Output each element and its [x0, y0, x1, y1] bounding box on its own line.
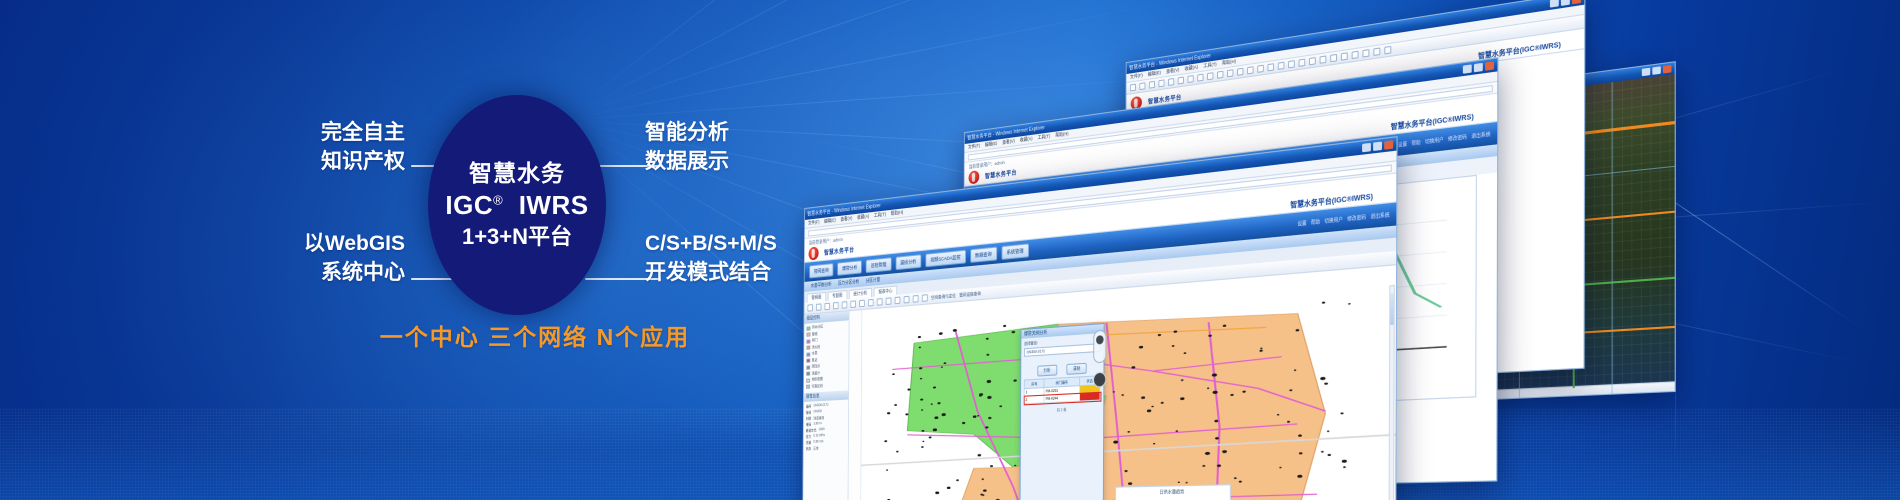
subnav-item-2[interactable]: 分区计量	[866, 277, 881, 284]
menu-item-4[interactable]: 工具(T)	[874, 212, 886, 220]
toolbar-icon-15[interactable]	[1278, 62, 1285, 70]
toolbar-icon-9[interactable]	[886, 297, 892, 305]
toolbar-icon-18[interactable]	[1309, 57, 1316, 65]
close-icon[interactable]	[1572, 0, 1581, 4]
small-line-chart-card: 日供水量趋势	[1115, 484, 1231, 500]
center-hub: 智慧水务 IGC® IWRS 1+3+N平台	[428, 95, 606, 315]
layer-label: 测压点	[812, 364, 820, 370]
menu-item-0[interactable]: 文件(F)	[968, 143, 980, 151]
toolbar-icon-8[interactable]	[1207, 72, 1213, 80]
layer-swatch-icon	[806, 359, 810, 363]
attribute-name: 流速	[806, 440, 811, 445]
attribute-name: 编号	[806, 404, 811, 409]
map-toolbar-tab-0[interactable]: 空间查询与定位	[931, 292, 956, 300]
menu-item-1[interactable]: 编辑(E)	[985, 141, 997, 149]
toolbar-icon-19[interactable]	[1320, 55, 1327, 63]
tab-0[interactable]: 管网图	[807, 292, 826, 303]
screenshot-stack: 影像底图 影像加载完成	[795, 40, 1895, 470]
minimize-icon[interactable]	[1463, 64, 1472, 73]
subnav-item-0[interactable]: 水量平衡分析	[811, 281, 832, 289]
nav-right-item-1[interactable]: 帮助	[1411, 139, 1420, 147]
map-zoom-slider[interactable]	[1093, 329, 1106, 363]
menu-item-0[interactable]: 文件(F)	[1130, 73, 1143, 81]
menu-item-3[interactable]: 收藏(A)	[857, 213, 869, 221]
menu-item-3[interactable]: 收藏(A)	[1185, 64, 1198, 72]
close-icon[interactable]	[1485, 61, 1494, 70]
toolbar-icon-5[interactable]	[850, 300, 856, 308]
menu-item-5[interactable]: 帮助(H)	[1055, 131, 1068, 139]
toolbar-icon-1[interactable]	[816, 303, 821, 311]
attribute-value: 球墨铸铁	[814, 415, 825, 421]
toolbar-icon-17[interactable]	[1299, 59, 1306, 67]
toolbar-icon-12[interactable]	[1247, 66, 1253, 74]
minimize-icon[interactable]	[1550, 0, 1559, 8]
toolbar-icon-14[interactable]	[1267, 63, 1274, 71]
layer-swatch-icon	[806, 385, 810, 389]
layer-label: 泵站	[812, 358, 818, 363]
nav-right-group[interactable]: 设置帮助切换用户修改密码退出系统	[1297, 211, 1389, 227]
toolbar-icon-11[interactable]	[904, 296, 910, 304]
menu-item-4[interactable]: 工具(T)	[1203, 61, 1216, 69]
toolbar-icon-7[interactable]	[1197, 74, 1203, 82]
menu-item-1[interactable]: 编辑(E)	[824, 217, 836, 224]
toolbar-icon-23[interactable]	[1362, 49, 1369, 58]
toolbar-icon-25[interactable]	[1384, 46, 1391, 55]
nav-right-item-4[interactable]: 退出系统	[1370, 211, 1389, 220]
window-gis-main[interactable]: 智慧水务平台 - Windows Internet Explorer 文件(F)…	[802, 136, 1398, 500]
attribute-name: 埋深	[806, 422, 811, 427]
dialog-analyze-button[interactable]: 分析	[1037, 365, 1057, 377]
menu-item-1[interactable]: 编辑(E)	[1148, 70, 1161, 78]
nav-button-0[interactable]: 管网查询	[809, 263, 833, 278]
small-line-chart-svg	[1116, 495, 1230, 500]
nav-button-1[interactable]: 爆管分析	[837, 260, 862, 276]
toolbar-icon-8[interactable]	[877, 298, 883, 306]
hub-brand-iwrs: IWRS	[519, 190, 589, 220]
nav-right-item-2[interactable]: 切换用户	[1425, 136, 1444, 145]
toolbar-icon-13[interactable]	[1257, 65, 1264, 73]
toolbar-icon-24[interactable]	[1373, 47, 1380, 56]
app-logo-text: 智慧水务平台	[985, 167, 1017, 180]
spoke-top-left-line2: 知识产权	[255, 148, 405, 177]
map-scrollbar[interactable]	[1388, 285, 1395, 500]
app-logo-text: 智慧水务平台	[824, 245, 854, 257]
toolbar-icon-22[interactable]	[1352, 51, 1359, 60]
nav-right-item-0[interactable]: 设置	[1297, 219, 1306, 227]
toolbar-icon-3[interactable]	[833, 302, 839, 310]
spoke-bottom-left: 以WebGIS 系统中心	[255, 230, 405, 288]
toolbar-icon-21[interactable]	[1341, 52, 1348, 60]
layer-label: 地形底图	[812, 377, 823, 383]
attribute-value: DN300-0172	[814, 403, 829, 409]
maximize-icon[interactable]	[1652, 66, 1660, 75]
attribute-name: 敷设年代	[806, 427, 816, 432]
toolbar-icon-9[interactable]	[1217, 71, 1223, 79]
attribute-value: 0.86 m/s	[813, 439, 823, 444]
registered-mark-icon: ®	[493, 192, 503, 207]
toolbar-icon-11[interactable]	[1237, 68, 1243, 76]
attribute-value: 0.32 MPa	[813, 433, 824, 438]
toolbar-icon-4[interactable]	[1168, 78, 1174, 86]
layer-panel[interactable]: 图层控制 供水分区管线阀门消火栓水表泵站测压点流量计地形底图行政区划 属性信息 …	[803, 311, 850, 500]
spoke-bottom-left-line1: 以WebGIS	[255, 230, 405, 259]
burst-analysis-dialog[interactable]: 爆管关阀分析 选择管段： DN300-0172 分析 清除 序号阀门编号状态1F…	[1019, 323, 1104, 500]
toolbar-icon-12[interactable]	[913, 295, 919, 303]
attribute-value: DN300	[814, 409, 822, 414]
maximize-icon[interactable]	[1561, 0, 1570, 6]
toolbar-icon-3[interactable]	[1158, 79, 1164, 87]
attribute-row: 状态正常	[806, 444, 846, 451]
menu-item-2[interactable]: 查看(V)	[1166, 67, 1179, 75]
toolbar-icon-5[interactable]	[1178, 77, 1184, 85]
close-icon[interactable]	[1384, 140, 1393, 149]
attribute-name: 状态	[806, 446, 811, 451]
toolbar-icon-10[interactable]	[895, 297, 901, 305]
layer-label: 供水分区	[812, 324, 823, 330]
layer-label: 行政区划	[812, 383, 823, 389]
banner-root: 完全自主 知识产权 智能分析 数据展示 以WebGIS 系统中心 C/S+B/S…	[0, 0, 1900, 500]
menu-item-0[interactable]: 文件(F)	[808, 219, 819, 226]
hub-brand-line: IGC® IWRS	[445, 188, 588, 223]
app-logo-icon	[809, 246, 819, 260]
layer-item[interactable]: 行政区划	[806, 382, 846, 389]
nav-right-item-4[interactable]: 退出系统	[1471, 130, 1490, 139]
nav-button-5[interactable]: 数据查询	[970, 247, 997, 263]
layer-swatch-icon	[807, 332, 811, 336]
hub-line-3: 1+3+N平台	[462, 223, 572, 252]
subnav-item-1[interactable]: 压力分区分析	[838, 279, 859, 287]
toolbar-icon-16[interactable]	[1288, 60, 1295, 68]
nav-button-4[interactable]: 视频SCADA监控	[925, 250, 965, 268]
layer-swatch-icon	[806, 378, 810, 382]
toolbar-icon-1[interactable]	[1139, 82, 1145, 90]
layer-label: 流量计	[812, 370, 820, 376]
toolbar-icon-10[interactable]	[1227, 69, 1233, 77]
attribute-value: 1.80 m	[813, 421, 821, 426]
layer-swatch-icon	[806, 365, 810, 369]
toolbar-icon-2[interactable]	[1149, 81, 1155, 89]
attribute-value: 正常	[813, 445, 818, 450]
legend-column	[848, 310, 862, 500]
nav-button-3[interactable]: 漏损分析	[895, 254, 921, 270]
toolbar-icon-0[interactable]	[807, 304, 812, 311]
layer-label: 阀门	[812, 338, 818, 343]
toolbar-icon-7[interactable]	[868, 299, 874, 307]
layer-swatch-icon	[806, 352, 810, 356]
layer-swatch-icon	[806, 339, 810, 343]
spoke-top-left: 完全自主 知识产权	[255, 119, 405, 177]
layer-label: 管线	[812, 331, 818, 336]
menu-item-5[interactable]: 帮助(H)	[891, 209, 904, 217]
layer-swatch-icon	[806, 372, 810, 376]
nav-right-item-2[interactable]: 切换用户	[1324, 216, 1343, 225]
attribute-value: 2009	[819, 427, 825, 432]
maximize-icon[interactable]	[1474, 63, 1483, 72]
toolbar-icon-4[interactable]	[842, 301, 848, 309]
toolbar-icon-20[interactable]	[1330, 54, 1337, 62]
attribute-name: 材质	[806, 416, 811, 421]
app-logo-icon	[969, 170, 980, 184]
hub-line-1: 智慧水务	[469, 159, 565, 188]
attribute-name: 压力	[806, 434, 811, 439]
menu-item-2[interactable]: 查看(V)	[840, 215, 852, 222]
tagline: 一个中心 三个网络 N个应用	[255, 318, 815, 352]
layer-swatch-icon	[806, 345, 810, 349]
toolbar-icon-13[interactable]	[922, 294, 928, 302]
maximize-icon[interactable]	[1373, 142, 1382, 151]
menu-item-4[interactable]: 工具(T)	[1038, 133, 1051, 141]
layer-swatch-icon	[807, 326, 811, 330]
nav-right-item-3[interactable]: 修改密码	[1347, 213, 1366, 222]
nav-button-6[interactable]: 系统管理	[1001, 243, 1029, 260]
menu-item-3[interactable]: 收藏(A)	[1020, 136, 1033, 144]
attribute-name: 管径	[806, 410, 811, 415]
dialog-clear-button[interactable]: 清除	[1067, 363, 1087, 375]
nav-right-item-0[interactable]: 设置	[1398, 140, 1407, 148]
layer-tree[interactable]: 供水分区管线阀门消火栓水表泵站测压点流量计地形底图行政区划	[804, 320, 849, 393]
spoke-bottom-left-line2: 系统中心	[255, 259, 405, 288]
toolbar-icon-6[interactable]	[859, 300, 865, 308]
dialog-result-table[interactable]: 序号阀门编号状态1FM-02312FM-0244	[1024, 375, 1101, 404]
map-toolbar-tab-1[interactable]: 管网设施查询	[959, 290, 981, 298]
tab-1[interactable]: 专题图	[828, 290, 848, 301]
toolbar-icon-2[interactable]	[824, 303, 830, 311]
minimize-icon[interactable]	[1362, 143, 1371, 152]
toolbar-icon-6[interactable]	[1187, 75, 1193, 83]
minimize-icon[interactable]	[1642, 68, 1650, 77]
menu-item-5[interactable]: 帮助(H)	[1222, 58, 1236, 66]
layer-label: 消火栓	[812, 344, 820, 350]
nav-button-2[interactable]: 巡检管理	[866, 257, 891, 273]
nav-right-item-3[interactable]: 修改密码	[1448, 133, 1467, 142]
hub-brand-igc: IGC	[445, 190, 493, 220]
layer-label: 水表	[812, 351, 818, 356]
attribute-list: 编号DN300-0172管径DN300材质球墨铸铁埋深1.80 m敷设年代200…	[803, 400, 848, 454]
spoke-top-left-line1: 完全自主	[255, 119, 405, 148]
toolbar-icon-0[interactable]	[1130, 84, 1136, 92]
close-icon[interactable]	[1663, 65, 1672, 74]
dialog-body: 选择管段： DN300-0172 分析 清除 序号阀门编号状态1FM-02312…	[1021, 333, 1104, 417]
menu-item-2[interactable]: 查看(V)	[1002, 138, 1015, 146]
nav-right-item-1[interactable]: 帮助	[1311, 218, 1320, 226]
